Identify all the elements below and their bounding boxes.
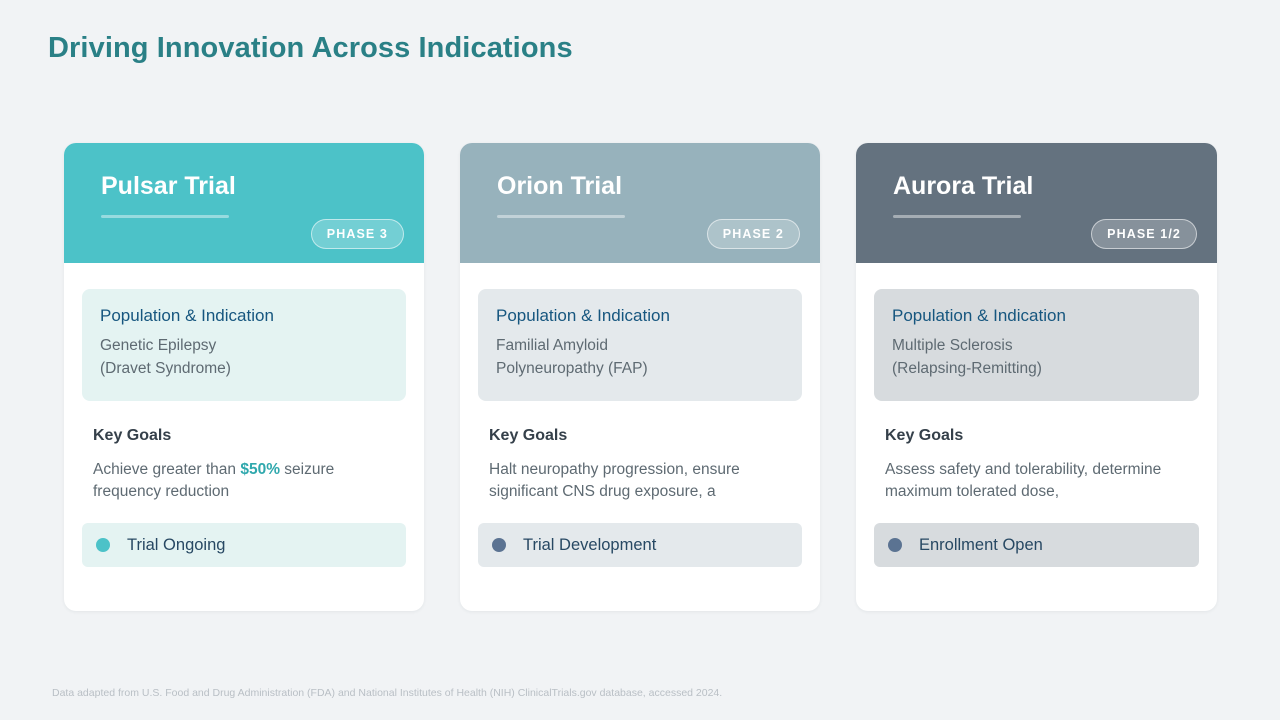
trial-card-orion[interactable]: Orion Trial PHASE 2 Population & Indicat… — [460, 143, 820, 611]
trial-card-aurora[interactable]: Aurora Trial PHASE 1/2 Population & Indi… — [856, 143, 1217, 611]
population-value: Genetic Epilepsy (Dravet Syndrome) — [100, 335, 388, 381]
key-goals-label: Key Goals — [885, 427, 1188, 445]
population-value-line-1: Familial Amyloid — [496, 335, 784, 358]
phase-badge: PHASE 2 — [707, 219, 800, 249]
source-note: Data adapted from U.S. Food and Drug Adm… — [52, 687, 722, 699]
goals-section: Key Goals Assess safety and tolerability… — [874, 401, 1199, 504]
title-rule — [101, 215, 229, 218]
status-dot-icon — [492, 538, 506, 552]
goals-highlight: $50% — [240, 461, 280, 478]
population-value-line-1: Genetic Epilepsy — [100, 335, 388, 358]
population-value: Multiple Sclerosis (Relapsing-Remitting) — [892, 335, 1181, 381]
key-goals-text: Halt neuropathy progression, ensure sign… — [489, 459, 791, 504]
population-box: Population & Indication Familial Amyloid… — [478, 289, 802, 401]
key-goals-label: Key Goals — [489, 427, 791, 445]
card-body: Population & Indication Familial Amyloid… — [460, 263, 820, 611]
population-value-line-1: Multiple Sclerosis — [892, 335, 1181, 358]
card-body: Population & Indication Multiple Scleros… — [856, 263, 1217, 611]
status-bar: Trial Development — [478, 523, 802, 567]
status-text: Trial Ongoing — [127, 536, 225, 555]
population-label: Population & Indication — [892, 306, 1181, 326]
card-body: Population & Indication Genetic Epilepsy… — [64, 263, 424, 611]
trial-cards-row: Pulsar Trial PHASE 3 Population & Indica… — [64, 143, 1217, 611]
population-label: Population & Indication — [100, 306, 388, 326]
goals-prefix: Assess safety and tolerability, determin… — [885, 461, 1161, 500]
card-header: Aurora Trial PHASE 1/2 — [856, 143, 1217, 263]
population-box: Population & Indication Multiple Scleros… — [874, 289, 1199, 401]
status-bar: Trial Ongoing — [82, 523, 406, 567]
goals-prefix: Achieve greater than — [93, 461, 240, 478]
card-title: Orion Trial — [497, 173, 820, 199]
goals-section: Key Goals Halt neuropathy progression, e… — [478, 401, 802, 504]
key-goals-text: Achieve greater than $50% seizure freque… — [93, 459, 395, 504]
card-title: Pulsar Trial — [101, 173, 424, 199]
card-title: Aurora Trial — [893, 173, 1217, 199]
title-rule — [893, 215, 1021, 218]
population-value-line-2: (Relapsing-Remitting) — [892, 358, 1181, 381]
card-header: Pulsar Trial PHASE 3 — [64, 143, 424, 263]
population-box: Population & Indication Genetic Epilepsy… — [82, 289, 406, 401]
goals-section: Key Goals Achieve greater than $50% seiz… — [82, 401, 406, 504]
phase-badge: PHASE 1/2 — [1091, 219, 1197, 249]
key-goals-text: Assess safety and tolerability, determin… — [885, 459, 1188, 504]
population-value: Familial Amyloid Polyneuropathy (FAP) — [496, 335, 784, 381]
trial-card-pulsar[interactable]: Pulsar Trial PHASE 3 Population & Indica… — [64, 143, 424, 611]
key-goals-label: Key Goals — [93, 427, 395, 445]
status-dot-icon — [96, 538, 110, 552]
title-rule — [497, 215, 625, 218]
population-value-line-2: Polyneuropathy (FAP) — [496, 358, 784, 381]
card-header: Orion Trial PHASE 2 — [460, 143, 820, 263]
phase-badge: PHASE 3 — [311, 219, 404, 249]
status-text: Trial Development — [523, 536, 656, 555]
goals-prefix: Halt neuropathy progression, ensure sign… — [489, 461, 740, 500]
status-dot-icon — [888, 538, 902, 552]
population-label: Population & Indication — [496, 306, 784, 326]
population-value-line-2: (Dravet Syndrome) — [100, 358, 388, 381]
status-bar: Enrollment Open — [874, 523, 1199, 567]
status-text: Enrollment Open — [919, 536, 1043, 555]
page-title: Driving Innovation Across Indications — [48, 32, 573, 65]
